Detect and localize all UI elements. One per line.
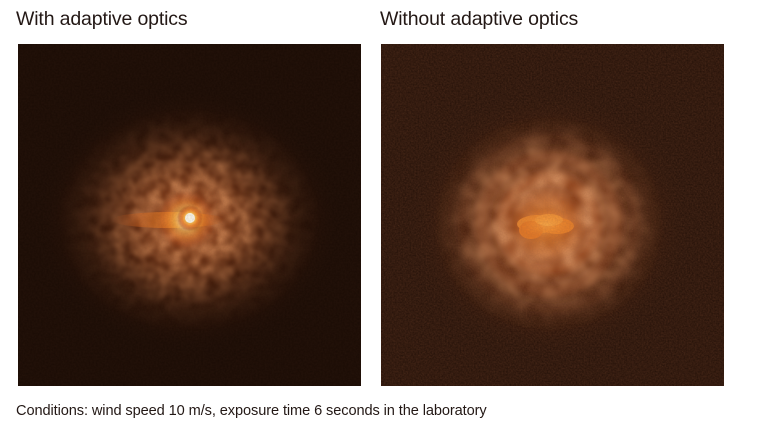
comparison-figure: With adaptive optics [0, 0, 768, 438]
image-panel-without-ao [381, 44, 724, 386]
figure-caption: Conditions: wind speed 10 m/s, exposure … [16, 404, 487, 419]
panel-title-with-ao: With adaptive optics [16, 10, 188, 30]
image-panel-with-ao [18, 44, 361, 386]
psf-image-with-ao [18, 44, 361, 386]
psf-image-without-ao [381, 44, 724, 386]
panel-title-without-ao: Without adaptive optics [380, 10, 578, 30]
